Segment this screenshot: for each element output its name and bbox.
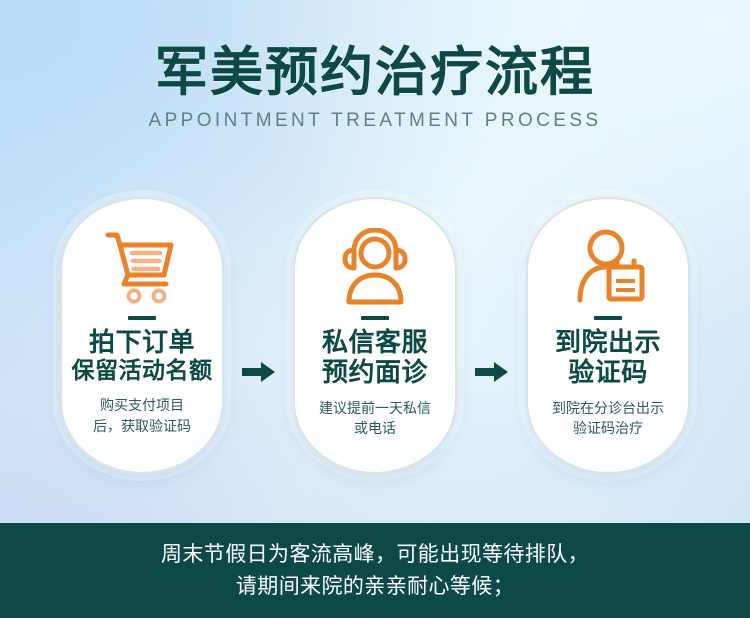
header: 军美预约治疗流程 APPOINTMENT TREATMENT PROCESS [0, 0, 750, 132]
poster-root: 军美预约治疗流程 APPOINTMENT TREATMENT PROCESS 拍… [0, 0, 750, 618]
arrow-right-icon-1 [224, 361, 293, 383]
page-subtitle: APPOINTMENT TREATMENT PROCESS [0, 110, 750, 132]
step-card-2[interactable]: 私信客服 预约面诊 建议提前一天私信 或电话 [293, 197, 457, 474]
step-title-2: 私信客服 [322, 327, 428, 357]
card-divider [361, 316, 389, 320]
step-card-1[interactable]: 拍下订单 保留活动名额 购买支付项目 后，获取验证码 [60, 197, 224, 474]
shopping-cart-icon [102, 225, 182, 309]
card-divider [594, 316, 622, 320]
card-divider [128, 316, 156, 320]
person-id-card-icon [568, 225, 648, 309]
step-desc-3: 到院在分诊台出示 验证码治疗 [540, 398, 676, 439]
step-title-3: 到院出示 [555, 327, 661, 357]
step-title-1: 拍下订单 [89, 327, 195, 357]
steps-row: 拍下订单 保留活动名额 购买支付项目 后，获取验证码 私信客服 [0, 196, 750, 474]
customer-service-headset-icon [335, 225, 415, 309]
step-card-3[interactable]: 到院出示 验证码 到院在分诊台出示 验证码治疗 [526, 197, 690, 474]
footer-notice-text: 周末节假日为客流高峰，可能出现等待排队， 请期间来院的亲亲耐心等候； [161, 539, 589, 602]
step-desc-1: 购买支付项目 后，获取验证码 [81, 395, 203, 436]
arrow-right-icon-2 [457, 361, 526, 383]
step-subtitle-1: 保留活动名额 [72, 357, 213, 385]
footer-notice-bar: 周末节假日为客流高峰，可能出现等待排队， 请期间来院的亲亲耐心等候； [0, 523, 750, 618]
page-title: 军美预约治疗流程 [0, 44, 750, 101]
step-desc-2: 建议提前一天私信 或电话 [307, 398, 443, 439]
step-subtitle-3: 验证码 [568, 357, 648, 387]
step-subtitle-2: 预约面诊 [322, 357, 428, 387]
